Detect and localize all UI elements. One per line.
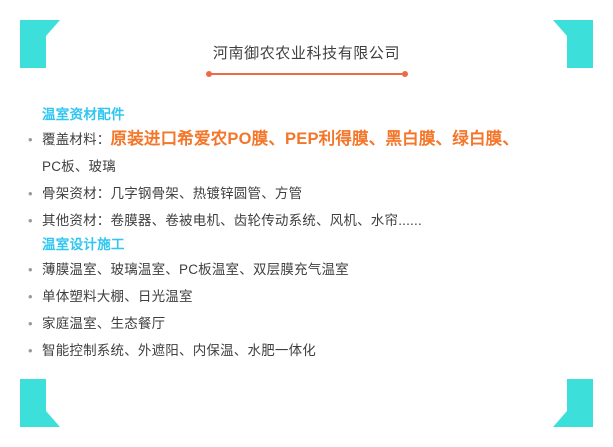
page-title: 河南御农农业科技有限公司	[0, 44, 613, 64]
list-item-text: 单体塑料大棚、日光温室	[42, 283, 587, 310]
list-item: • 智能控制系统、外遮阳、内保温、水肥一体化	[26, 337, 587, 364]
bullet-dot-icon: •	[26, 180, 42, 207]
bullet-dot-icon: •	[26, 337, 42, 364]
bullet-dot-icon: •	[26, 256, 42, 283]
list-item-text: 薄膜温室、玻璃温室、PC板温室、双层膜充气温室	[42, 256, 587, 283]
section-heading-design: 温室设计施工	[42, 234, 587, 256]
list-item-text: 其他资材：卷膜器、卷被电机、齿轮传动系统、风机、水帘......	[42, 207, 587, 234]
section-heading-materials: 温室资材配件	[42, 104, 587, 126]
bullet-dot-icon: •	[26, 283, 42, 310]
bullet-dot-icon: •	[26, 310, 42, 337]
corner-bracket-bottom-right-icon	[553, 379, 593, 427]
list-item-text: 智能控制系统、外遮阳、内保温、水肥一体化	[42, 337, 587, 364]
list-item-tail: PC板、玻璃	[42, 159, 116, 174]
bullet-dot-icon: •	[26, 207, 42, 234]
bullet-dot-icon: •	[26, 126, 42, 153]
list-item-label: 覆盖材料：	[42, 132, 111, 147]
list-item: • 家庭温室、生态餐厅	[26, 310, 587, 337]
divider-dot-right-icon	[402, 71, 408, 77]
list-item: • 单体塑料大棚、日光温室	[26, 283, 587, 310]
list-item: • 薄膜温室、玻璃温室、PC板温室、双层膜充气温室	[26, 256, 587, 283]
list-item-emphasis: 原装进口希爱农PO膜、PEP利得膜、黑白膜、绿白膜、	[111, 130, 520, 148]
list-item-text: 家庭温室、生态餐厅	[42, 310, 587, 337]
list-item-text: 覆盖材料：原装进口希爱农PO膜、PEP利得膜、黑白膜、绿白膜、PC板、玻璃	[42, 126, 587, 180]
title-divider	[206, 69, 408, 79]
divider-line	[209, 73, 405, 75]
slide-header: 河南御农农业科技有限公司	[0, 44, 613, 79]
list-item: • 覆盖材料：原装进口希爱农PO膜、PEP利得膜、黑白膜、绿白膜、PC板、玻璃	[26, 126, 587, 180]
slide-canvas: 河南御农农业科技有限公司 温室资材配件 • 覆盖材料：原装进口希爱农PO膜、PE…	[0, 0, 613, 447]
slide-content: 温室资材配件 • 覆盖材料：原装进口希爱农PO膜、PEP利得膜、黑白膜、绿白膜、…	[26, 104, 587, 364]
list-item: • 骨架资材：几字钢骨架、热镀锌圆管、方管	[26, 180, 587, 207]
list-item-text: 骨架资材：几字钢骨架、热镀锌圆管、方管	[42, 180, 587, 207]
corner-bracket-bottom-left-icon	[20, 379, 60, 427]
list-item: • 其他资材：卷膜器、卷被电机、齿轮传动系统、风机、水帘......	[26, 207, 587, 234]
